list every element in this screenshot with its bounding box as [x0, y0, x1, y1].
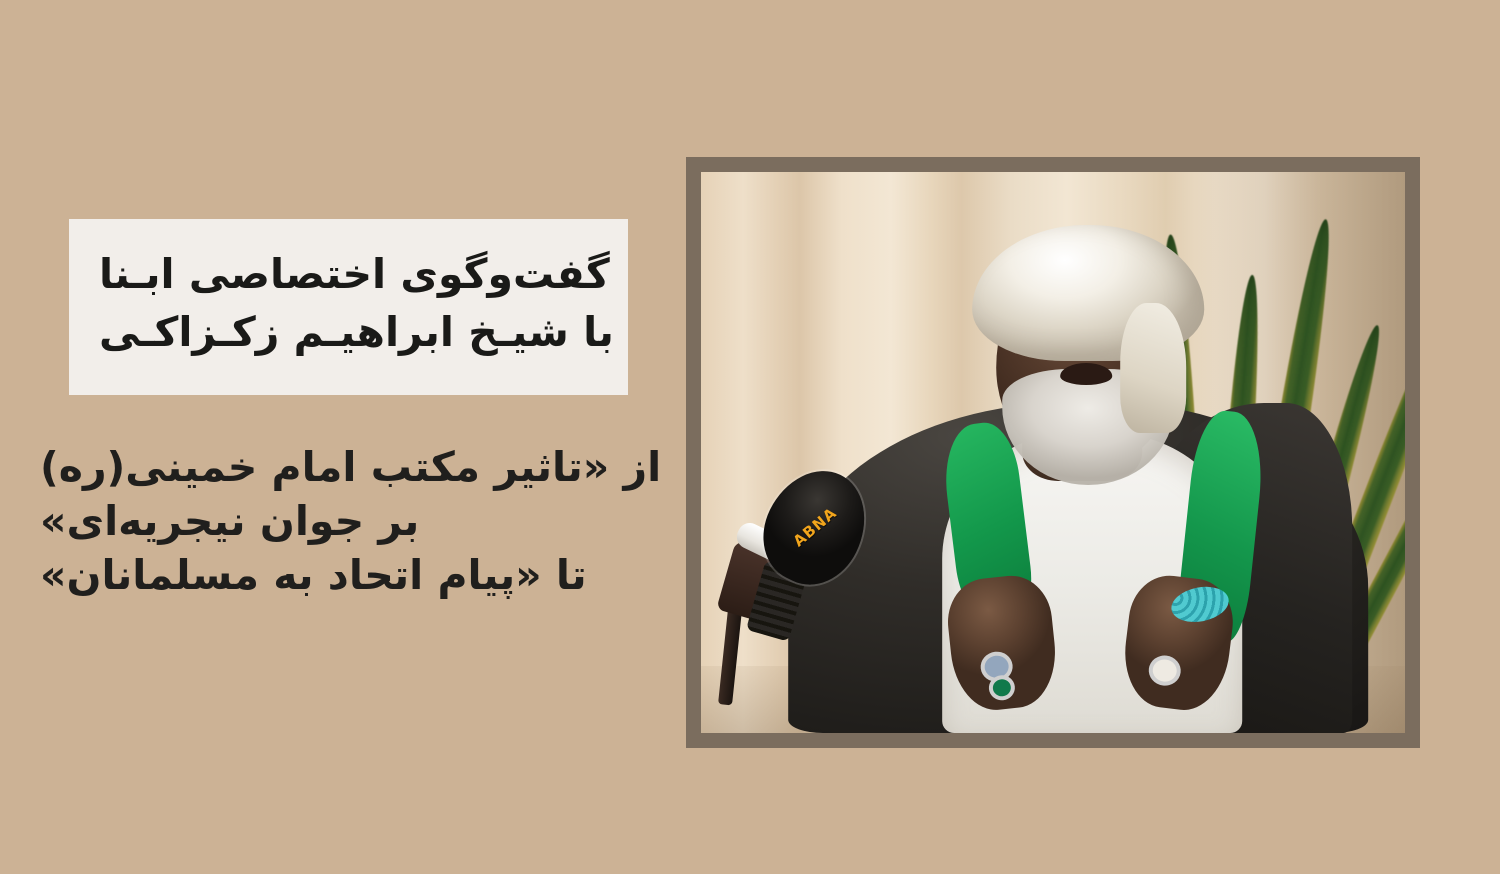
turban-tail: [1120, 303, 1186, 433]
subtitle-line-1: از «تاثیر مکتب امام خمینی(ره): [40, 440, 661, 494]
poster-canvas: گفت‌وگوی اختصاصی ابـنا با شیـخ ابراهیـم …: [0, 0, 1500, 874]
ring-green: [988, 674, 1016, 702]
title-line-1: گفت‌وگوی اختصاصی ابـنا: [99, 245, 610, 303]
subtitle-line-2: بر جوان نیجریه‌ای»: [40, 494, 419, 548]
subject-figure: [846, 172, 1316, 733]
title-card: گفت‌وگوی اختصاصی ابـنا با شیـخ ابراهیـم …: [69, 219, 628, 395]
interview-photo: ABNA: [701, 172, 1405, 733]
ring-white: [1147, 654, 1182, 688]
title-line-2: با شیـخ ابراهیـم زکـزاکـی: [99, 303, 614, 361]
microphone: ABNA: [719, 469, 869, 699]
mic-stand: [718, 609, 742, 706]
mic-brand-label: ABNA: [790, 504, 841, 551]
subtitle-block: از «تاثیر مکتب امام خمینی(ره) بر جوان نی…: [40, 440, 655, 602]
photo-frame: ABNA: [686, 157, 1420, 748]
subtitle-line-3: تا «پیام اتحاد به مسلمانان»: [40, 548, 587, 602]
mouth: [1060, 363, 1112, 385]
